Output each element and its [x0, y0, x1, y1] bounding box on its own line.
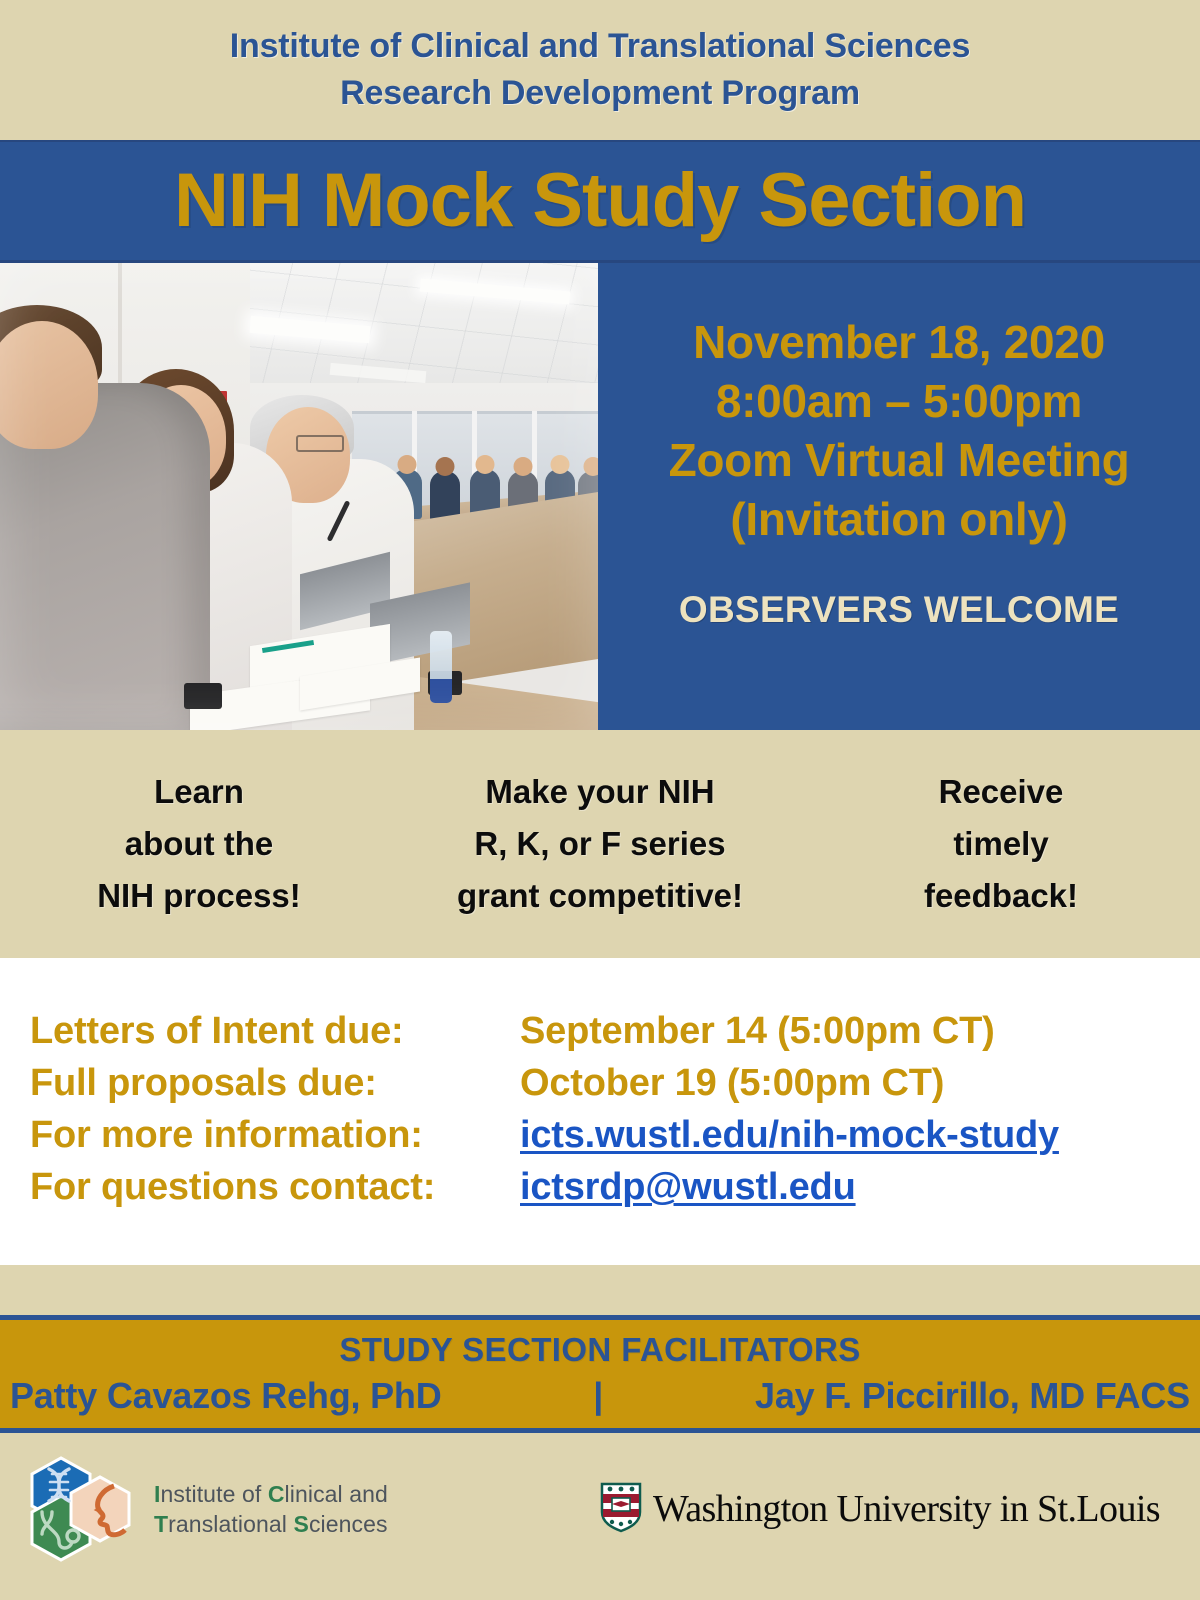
observers-welcome: OBSERVERS WELCOME: [679, 589, 1119, 631]
deadline-label: For more information:: [30, 1114, 520, 1157]
icts-logo: Institute of Clinical and Translational …: [28, 1456, 388, 1562]
wustl-wordmark: Washington University in St.Louis: [653, 1487, 1160, 1531]
website-link[interactable]: icts.wustl.edu/nih-mock-study: [520, 1114, 1059, 1157]
benefit-item: Learn about the NIH process!: [34, 766, 364, 922]
facilitator-separator: |: [593, 1375, 603, 1417]
facilitators-heading: STUDY SECTION FACILITATORS: [339, 1331, 860, 1369]
benefit-item: Make your NIH R, K, or F series grant co…: [364, 766, 836, 922]
benefit-line: about the: [34, 818, 364, 870]
facilitator-name-right: Jay F. Piccirillo, MD FACS: [755, 1375, 1190, 1417]
benefit-line: Receive: [836, 766, 1166, 818]
poster-header: Institute of Clinical and Translational …: [0, 0, 1200, 140]
benefit-line: Learn: [34, 766, 364, 818]
event-info-panel: November 18, 2020 8:00am – 5:00pm Zoom V…: [598, 263, 1200, 730]
facilitators-section: STUDY SECTION FACILITATORS Patty Cavazos…: [0, 1315, 1200, 1433]
tan-spacer: [0, 1265, 1200, 1315]
hero-section: November 18, 2020 8:00am – 5:00pm Zoom V…: [0, 263, 1200, 730]
icts-wordmark: Institute of Clinical and Translational …: [154, 1479, 388, 1539]
deadlines-section: Letters of Intent due: September 14 (5:0…: [0, 958, 1200, 1265]
poster: Institute of Clinical and Translational …: [0, 0, 1200, 1600]
benefit-item: Receive timely feedback!: [836, 766, 1166, 922]
deadline-row: Letters of Intent due: September 14 (5:0…: [30, 1010, 1200, 1062]
benefits-section: Learn about the NIH process! Make your N…: [0, 730, 1200, 958]
icts-line-1: Institute of Clinical and: [154, 1479, 388, 1509]
deadline-label: For questions contact:: [30, 1166, 520, 1209]
deadline-label: Full proposals due:: [30, 1062, 520, 1105]
facilitator-name-left: Patty Cavazos Rehg, PhD: [10, 1375, 442, 1417]
event-date: November 18, 2020: [693, 313, 1105, 372]
benefit-line: NIH process!: [34, 870, 364, 922]
page-title: NIH Mock Study Section: [174, 162, 1026, 240]
benefit-line: feedback!: [836, 870, 1166, 922]
event-time: 8:00am – 5:00pm: [716, 372, 1082, 431]
icts-line-2: Translational Sciences: [154, 1509, 388, 1539]
poster-footer: Institute of Clinical and Translational …: [0, 1433, 1200, 1585]
benefit-line: timely: [836, 818, 1166, 870]
wustl-shield-icon: [599, 1481, 643, 1538]
deadline-row: For more information: icts.wustl.edu/nih…: [30, 1114, 1200, 1166]
deadline-row: For questions contact: ictsrdp@wustl.edu: [30, 1166, 1200, 1218]
event-location: Zoom Virtual Meeting: [669, 431, 1130, 490]
benefit-line: R, K, or F series: [364, 818, 836, 870]
deadline-value: October 19 (5:00pm CT): [520, 1062, 944, 1105]
deadline-label: Letters of Intent due:: [30, 1010, 520, 1053]
benefit-line: grant competitive!: [364, 870, 836, 922]
deadline-row: Full proposals due: October 19 (5:00pm C…: [30, 1062, 1200, 1114]
event-note: (Invitation only): [730, 490, 1067, 549]
icts-hexagon-mark-icon: [28, 1456, 136, 1562]
title-bar: NIH Mock Study Section: [0, 140, 1200, 263]
deadline-value: September 14 (5:00pm CT): [520, 1010, 995, 1053]
wustl-logo: Washington University in St.Louis: [599, 1481, 1160, 1538]
org-line-2: Research Development Program: [340, 70, 860, 117]
org-line-1: Institute of Clinical and Translational …: [230, 23, 970, 70]
benefit-line: Make your NIH: [364, 766, 836, 818]
meeting-photo: [0, 263, 598, 730]
email-link[interactable]: ictsrdp@wustl.edu: [520, 1166, 856, 1209]
